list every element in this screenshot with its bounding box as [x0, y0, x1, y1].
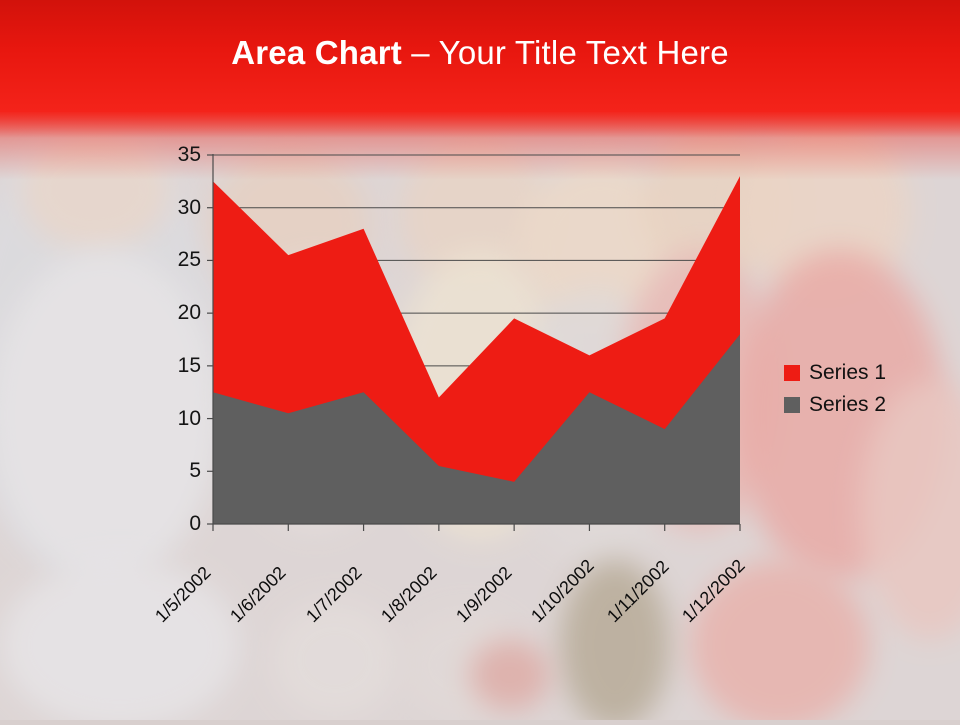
- y-axis-tick-label: 15: [155, 355, 201, 376]
- series-2-swatch: [784, 397, 800, 413]
- legend-item-label: Series 1: [809, 361, 886, 385]
- y-axis-tick-label: 35: [155, 144, 201, 165]
- y-axis-tick-label: 25: [155, 249, 201, 270]
- legend-item-label: Series 2: [809, 393, 886, 417]
- page-title-bold: Area Chart: [231, 34, 402, 71]
- legend-item[interactable]: Series 1: [784, 357, 886, 389]
- series-1-swatch: [784, 365, 800, 381]
- y-axis-tick-label: 5: [155, 460, 201, 481]
- y-axis-tick-label: 20: [155, 302, 201, 323]
- legend-item[interactable]: Series 2: [784, 389, 886, 421]
- page-title: Area Chart – Your Title Text Here: [0, 34, 960, 72]
- y-axis-tick-label: 10: [155, 408, 201, 429]
- title-band-glow: [0, 112, 960, 138]
- y-axis-tick-label: 30: [155, 197, 201, 218]
- page-title-rest: – Your Title Text Here: [402, 34, 729, 71]
- chart-legend: Series 1Series 2: [784, 357, 886, 421]
- series-areas: [213, 176, 740, 524]
- y-axis-tick-label: 0: [155, 513, 201, 534]
